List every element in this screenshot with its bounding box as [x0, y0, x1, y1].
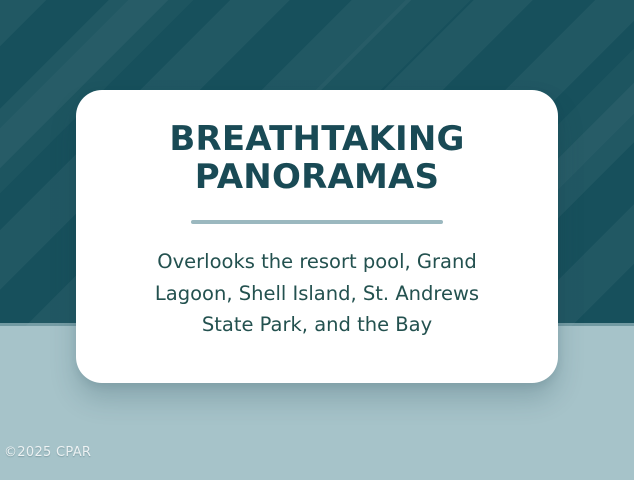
title-divider	[191, 220, 443, 224]
card-body-text: Overlooks the resort pool, Grand Lagoon,…	[129, 246, 505, 341]
slide-canvas: BREATHTAKING PANORAMAS Overlooks the res…	[0, 0, 634, 480]
card-title: BREATHTAKING PANORAMAS	[110, 120, 524, 196]
copyright-watermark: ©2025 CPAR	[4, 446, 91, 459]
content-card: BREATHTAKING PANORAMAS Overlooks the res…	[76, 90, 558, 383]
